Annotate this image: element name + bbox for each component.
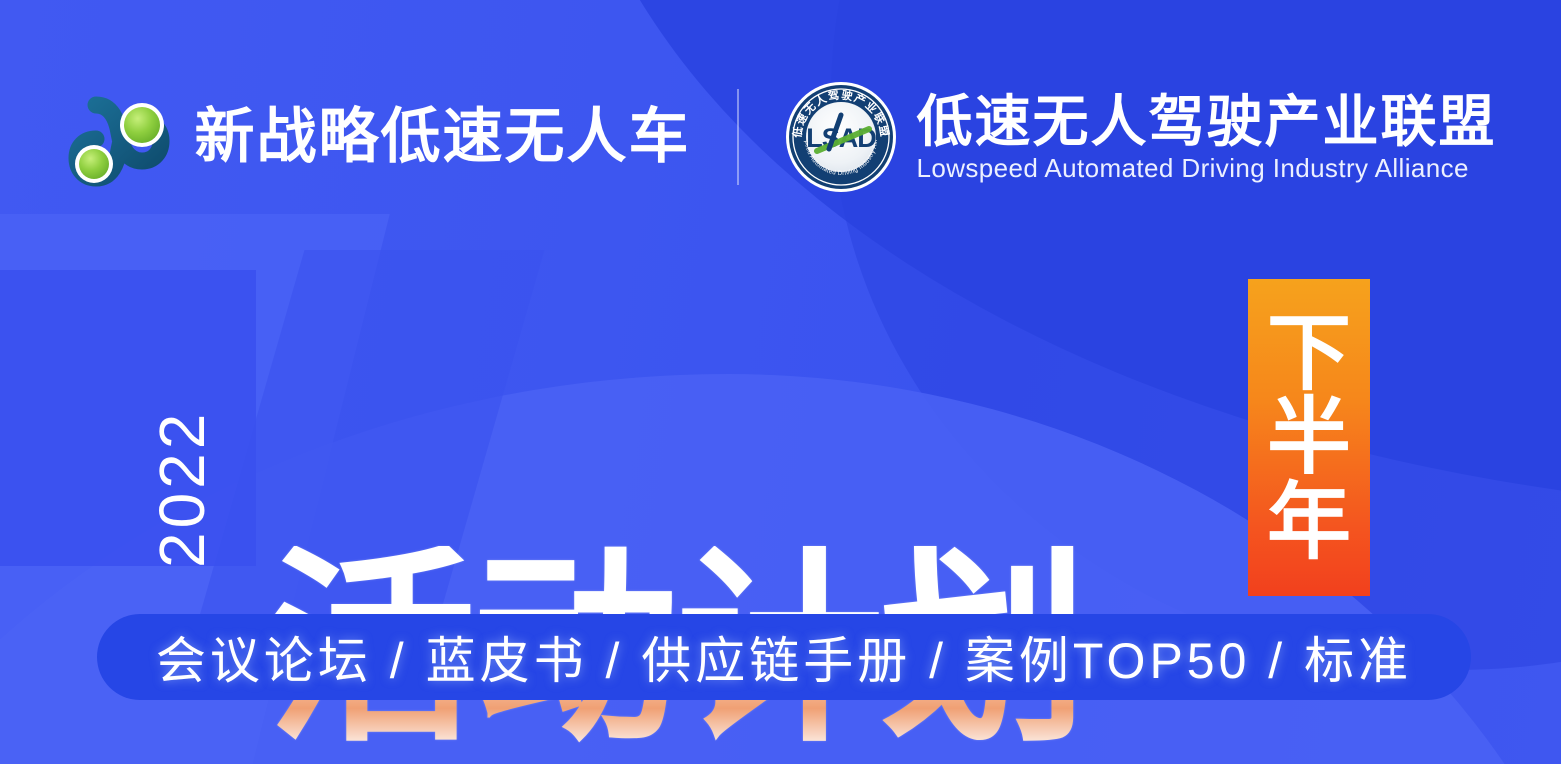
promo-banner: 新战略低速无人车 [0,0,1561,764]
banner-header: 新战略低速无人车 [0,62,1561,212]
alliance-name-cn: 低速无人驾驶产业联盟 [917,93,1497,152]
year-label: 2022 [150,410,214,568]
half-year-badge: 下 半 年 [1248,279,1370,596]
alliance-name-en: Lowspeed Automated Driving Industry Alli… [917,155,1497,181]
half-year-char-3: 年 [1267,481,1351,563]
half-year-char-2: 半 [1267,396,1351,478]
brand-left: 新战略低速无人车 [65,83,737,191]
molecule-x-logo-icon [65,83,173,191]
brand-left-name: 新战略低速无人车 [195,107,691,167]
brand-right: 低速无人驾驶产业联盟 Lowspeed Automated Driving In… [739,81,1497,193]
topics-pill: 会议论坛 / 蓝皮书 / 供应链手册 / 案例TOP50 / 标准 [97,614,1471,700]
half-year-char-1: 下 [1267,312,1351,394]
brand-right-text: 低速无人驾驶产业联盟 Lowspeed Automated Driving In… [917,93,1497,182]
lsad-circular-emblem-icon: 低速无人驾驶产业联盟 Lowspeed Automated Driving In… [785,81,897,193]
topics-list-text: 会议论坛 / 蓝皮书 / 供应链手册 / 案例TOP50 / 标准 [156,621,1412,693]
